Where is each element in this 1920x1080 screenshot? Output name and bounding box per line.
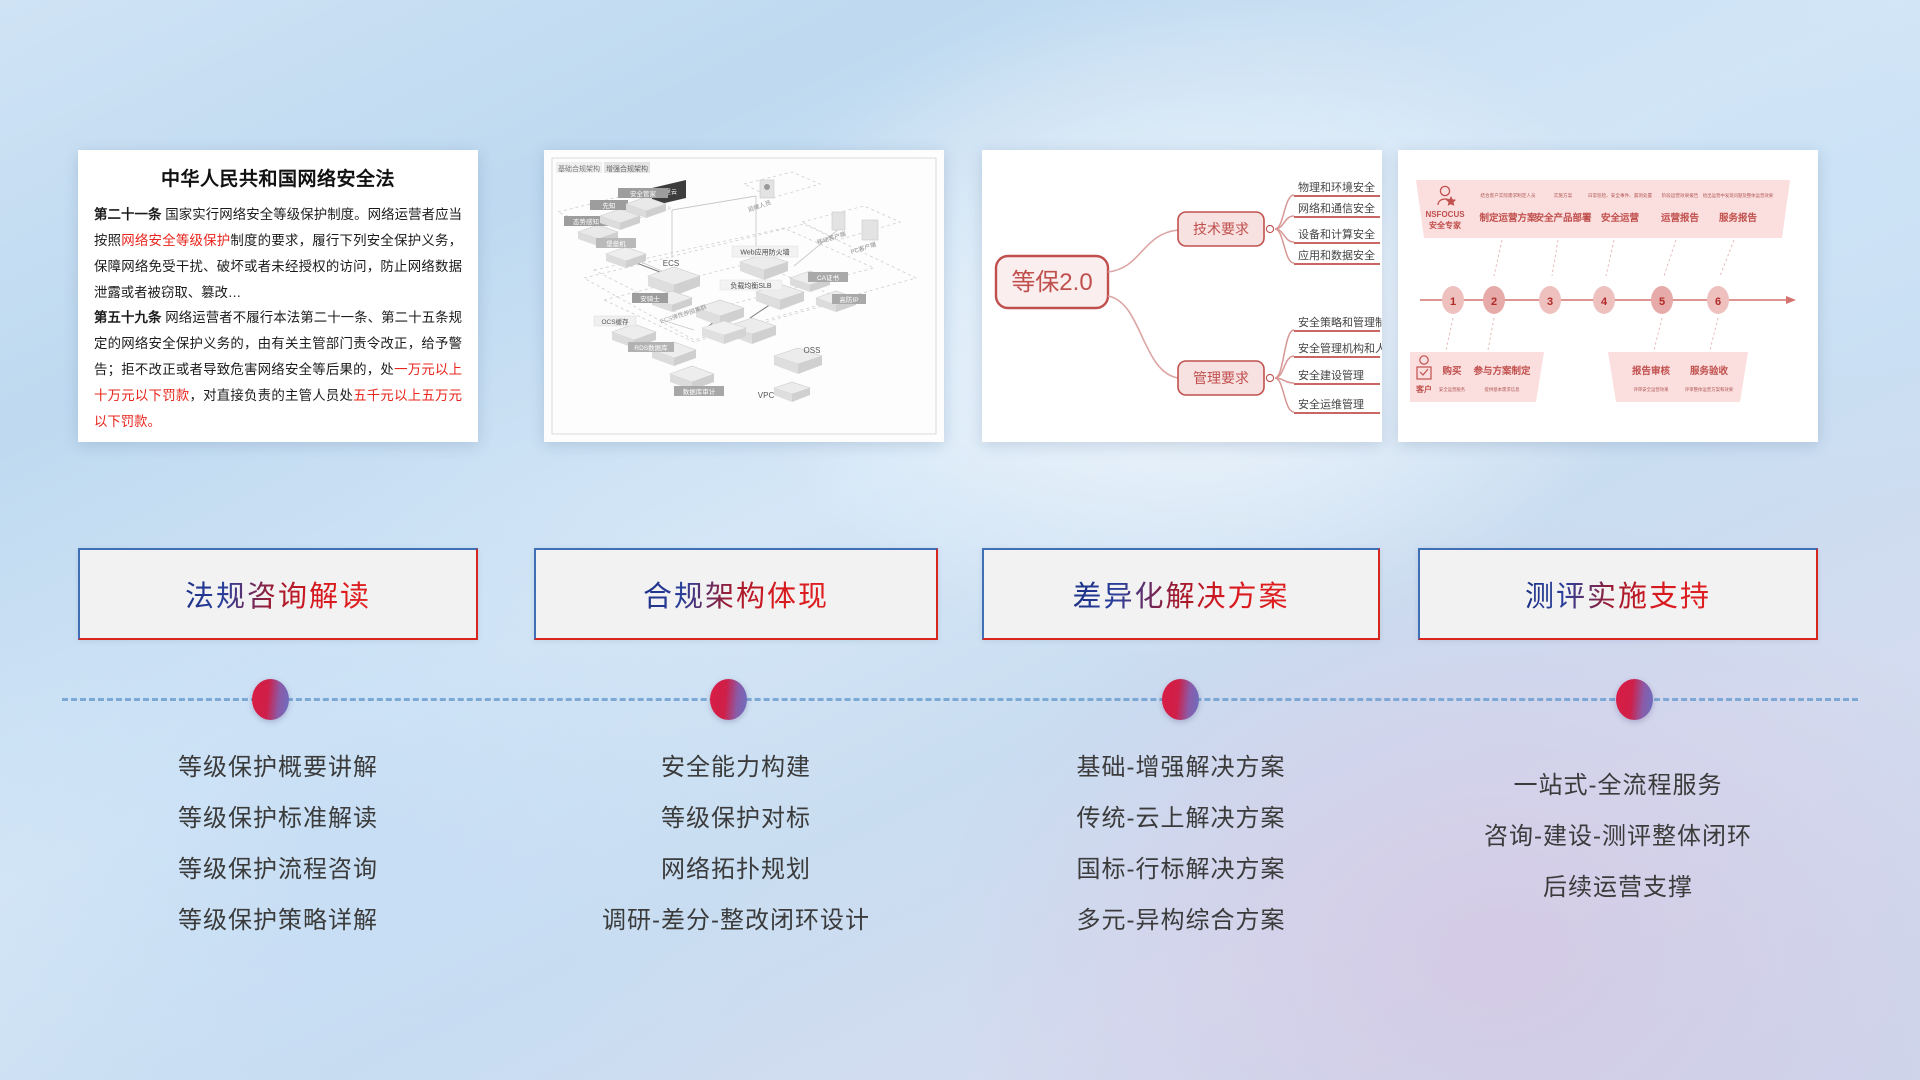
svg-text:NSFOCUS: NSFOCUS <box>1425 210 1465 219</box>
title-label-1: 法规咨询解读 <box>185 573 371 615</box>
detail-column-2: 安全能力构建 等级保护对标 网络拓扑规划 调研-差分-整改闭环设计 <box>534 742 938 946</box>
list-item: 等级保护概要讲解 <box>78 742 478 793</box>
article-59-text-part2: ，对直接负责的主管人员处 <box>189 388 353 403</box>
detail-column-1: 等级保护概要讲解 等级保护标准解读 等级保护流程咨询 等级保护策略详解 <box>78 742 478 946</box>
svg-text:6: 6 <box>1715 296 1721 308</box>
svg-text:评审安全运营效果: 评审安全运营效果 <box>1633 386 1669 393</box>
svg-text:安全运营: 安全运营 <box>1601 212 1640 224</box>
svg-text:评审整体运营方案和效果: 评审整体运营方案和效果 <box>1685 386 1734 393</box>
svg-text:管理要求: 管理要求 <box>1193 370 1249 386</box>
svg-text:结合客户实际需求制定人员: 结合客户实际需求制定人员 <box>1480 192 1536 199</box>
law-article-21: 第二十一条 国家实行网络安全等级保护制度。网络运营者应当按照网络安全等级保护制度… <box>94 202 462 305</box>
title-label-4: 测评实施支持 <box>1525 573 1711 615</box>
svg-text:安全管家: 安全管家 <box>630 189 657 198</box>
svg-text:应用和数据安全: 应用和数据安全 <box>1298 248 1375 262</box>
list-item: 一站式-全流程服务 <box>1418 760 1818 811</box>
svg-text:实施方案: 实施方案 <box>1554 192 1573 199</box>
service-flow-diagram: NSFOCUS 安全专家 结合客户实际需求制定人员 制定运营方案 实施方案 安全… <box>1398 150 1818 442</box>
svg-text:参与方案制定: 参与方案制定 <box>1472 365 1531 377</box>
svg-text:设备和计算安全: 设备和计算安全 <box>1298 227 1375 241</box>
arch-tab-basic: 基础合规架构 <box>558 164 600 173</box>
svg-text:服务验收: 服务验收 <box>1690 365 1729 377</box>
svg-text:Web应用防火墙: Web应用防火墙 <box>740 248 789 257</box>
list-item: 网络拓扑规划 <box>534 844 938 895</box>
detail-column-3: 基础-增强解决方案 传统-云上解决方案 国标-行标解决方案 多元-异构综合方案 <box>982 742 1380 946</box>
preview-cards-row: 中华人民共和国网络安全法 第二十一条 国家实行网络安全等级保护制度。网络运营者应… <box>0 150 1920 442</box>
svg-text:OSS: OSS <box>804 346 821 355</box>
title-box-compliance-architecture[interactable]: 合规架构体现 <box>534 548 938 640</box>
title-box-differentiated-solution[interactable]: 差异化解决方案 <box>982 548 1380 640</box>
list-item: 等级保护对标 <box>534 793 938 844</box>
svg-text:提供基本需求信息: 提供基本需求信息 <box>1484 386 1520 393</box>
timeline-dot-1[interactable] <box>252 679 289 720</box>
mindmap-svg: 等保2.0 技术要求 <box>982 150 1382 442</box>
svg-text:网络和通信安全: 网络和通信安全 <box>1298 201 1375 215</box>
mindmap-branch-technical: 技术要求 <box>1178 212 1274 246</box>
svg-text:先知: 先知 <box>603 201 616 210</box>
list-item: 传统-云上解决方案 <box>982 793 1380 844</box>
timeline-dot-3[interactable] <box>1162 679 1199 720</box>
svg-text:客户: 客户 <box>1415 384 1432 394</box>
svg-text:安全策略和管理制度: 安全策略和管理制度 <box>1298 315 1382 329</box>
slide-canvas: 中华人民共和国网络安全法 第二十一条 国家实行网络安全等级保护制度。网络运营者应… <box>0 0 1920 1080</box>
list-item: 基础-增强解决方案 <box>982 742 1380 793</box>
architecture-svg: 基础合规架构 增强合规架构 阿里云 <box>544 150 944 442</box>
list-item: 等级保护标准解读 <box>78 793 478 844</box>
list-item: 等级保护策略详解 <box>78 895 478 946</box>
svg-text:购买: 购买 <box>1442 365 1462 377</box>
article-21-highlight: 网络安全等级保护 <box>121 233 230 248</box>
law-title: 中华人民共和国网络安全法 <box>94 164 462 191</box>
svg-text:4: 4 <box>1601 296 1608 308</box>
svg-text:安全运维管理: 安全运维管理 <box>1298 397 1364 411</box>
svg-text:1: 1 <box>1450 296 1456 308</box>
title-label-2: 合规架构体现 <box>643 573 829 615</box>
svg-text:安全运营服务: 安全运营服务 <box>1439 386 1466 393</box>
svg-text:堡垒机: 堡垒机 <box>606 239 626 248</box>
svg-text:安全建设管理: 安全建设管理 <box>1298 368 1364 382</box>
timeline-dashed-line <box>62 698 1858 701</box>
svg-text:等保2.0: 等保2.0 <box>1011 269 1092 296</box>
mindmap-branch-management: 管理要求 <box>1178 361 1274 395</box>
article-59-label: 第五十九条 <box>94 310 161 325</box>
svg-text:制定运营方案: 制定运营方案 <box>1479 212 1537 224</box>
law-document: 中华人民共和国网络安全法 第二十一条 国家实行网络安全等级保护制度。网络运营者应… <box>78 150 478 442</box>
svg-text:安全产品部署: 安全产品部署 <box>1534 212 1592 224</box>
svg-text:安全专家: 安全专家 <box>1429 220 1462 230</box>
article-21-label: 第二十一条 <box>94 207 161 222</box>
list-item: 后续运营支撑 <box>1418 862 1818 913</box>
list-item: 调研-差分-整改闭环设计 <box>534 895 938 946</box>
svg-text:CA证书: CA证书 <box>817 273 840 282</box>
title-label-3: 差异化解决方案 <box>1072 573 1289 615</box>
title-box-evaluation-support[interactable]: 测评实施支持 <box>1418 548 1818 640</box>
svg-text:安骑士: 安骑士 <box>640 294 660 303</box>
svg-text:给出运营中发现问题及整体运营效果: 给出运营中发现问题及整体运营效果 <box>1703 192 1774 199</box>
svg-text:VPC: VPC <box>758 391 775 400</box>
svg-text:5: 5 <box>1659 296 1665 308</box>
svg-text:ECS: ECS <box>663 259 679 268</box>
svg-text:安全管理机构和人员: 安全管理机构和人员 <box>1298 341 1382 355</box>
list-item: 咨询-建设-测评整体闭环 <box>1418 811 1818 862</box>
svg-text:负载均衡SLB: 负载均衡SLB <box>730 281 772 290</box>
timeline-dot-2[interactable] <box>710 679 747 720</box>
detail-columns-row: 等级保护概要讲解 等级保护标准解读 等级保护流程咨询 等级保护策略详解 安全能力… <box>0 742 1920 972</box>
svg-text:2: 2 <box>1491 296 1497 308</box>
detail-column-4: 一站式-全流程服务 咨询-建设-测评整体闭环 后续运营支撑 <box>1418 760 1818 913</box>
list-item: 等级保护流程咨询 <box>78 844 478 895</box>
svg-text:态势感知: 态势感知 <box>573 217 599 226</box>
service-flow-svg: NSFOCUS 安全专家 结合客户实际需求制定人员 制定运营方案 实施方案 安全… <box>1398 150 1818 442</box>
title-box-legal-consulting[interactable]: 法规咨询解读 <box>78 548 478 640</box>
svg-text:RDS数据库: RDS数据库 <box>634 343 668 352</box>
timeline-dot-4[interactable] <box>1616 679 1653 720</box>
svg-text:高防IP: 高防IP <box>839 295 858 304</box>
svg-text:运营报告: 运营报告 <box>1661 212 1700 224</box>
law-article-59: 第五十九条 网络运营者不履行本法第二十一条、第二十五条规定的网络安全保护义务的，… <box>94 305 462 434</box>
svg-text:报告审核: 报告审核 <box>1632 365 1671 377</box>
svg-text:OCS缓存: OCS缓存 <box>601 317 629 326</box>
list-item: 多元-异构综合方案 <box>982 895 1380 946</box>
card-mindmap-dengbao[interactable]: 等保2.0 技术要求 <box>982 150 1382 442</box>
svg-text:数据库审计: 数据库审计 <box>683 387 716 396</box>
list-item: 安全能力构建 <box>534 742 938 793</box>
svg-text:阶段运营效果报告: 阶段运营效果报告 <box>1662 192 1699 199</box>
svg-text:技术要求: 技术要求 <box>1193 221 1249 237</box>
timeline-rail <box>62 698 1858 701</box>
title-boxes-row: 法规咨询解读 合规架构体现 差异化解决方案 测评实施支持 <box>0 548 1920 646</box>
mindmap-diagram: 等保2.0 技术要求 <box>982 150 1382 442</box>
architecture-diagram: 基础合规架构 增强合规架构 阿里云 <box>544 150 944 442</box>
list-item: 国标-行标解决方案 <box>982 844 1380 895</box>
card-cybersecurity-law[interactable]: 中华人民共和国网络安全法 第二十一条 国家实行网络安全等级保护制度。网络运营者应… <box>78 150 478 442</box>
svg-text:服务报告: 服务报告 <box>1719 212 1758 224</box>
svg-text:物理和环境安全: 物理和环境安全 <box>1298 180 1375 194</box>
svg-text:日常巡检、安全事件、漏洞处置: 日常巡检、安全事件、漏洞处置 <box>1588 192 1653 199</box>
card-service-flow[interactable]: NSFOCUS 安全专家 结合客户实际需求制定人员 制定运营方案 实施方案 安全… <box>1398 150 1818 442</box>
mindmap-root-node: 等保2.0 <box>996 256 1108 308</box>
arch-tab-enhanced: 增强合规架构 <box>606 164 648 173</box>
svg-text:3: 3 <box>1547 296 1553 308</box>
card-compliance-architecture[interactable]: 基础合规架构 增强合规架构 阿里云 <box>544 150 944 442</box>
